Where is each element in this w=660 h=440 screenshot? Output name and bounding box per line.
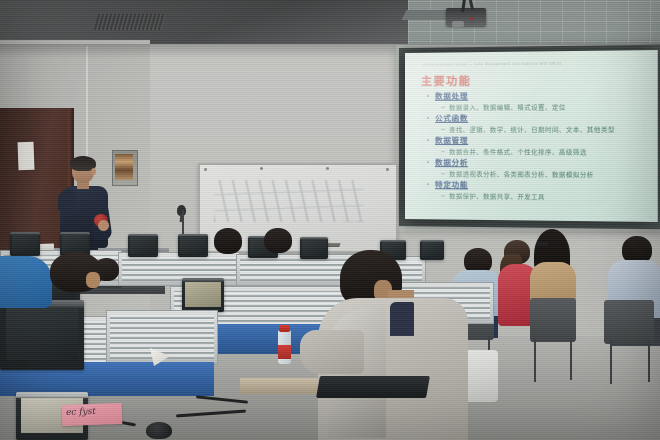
bullet-detail: 数据录入、数据编辑、格式设置、定位 <box>423 102 652 112</box>
list-item: 数据处理 数据录入、数据编辑、格式设置、定位 <box>423 89 652 112</box>
slide-bullet-list: 数据处理 数据录入、数据编辑、格式设置、定位 公式函数 查找、逻辑、数学、统计、… <box>423 89 652 203</box>
chair <box>604 300 654 344</box>
student-torso <box>0 256 52 308</box>
bullet-heading: 数据处理 <box>423 89 652 101</box>
chair-leg <box>610 340 612 384</box>
bullet-heading: 数据分析 <box>423 157 652 169</box>
bullet-heading: 公式函数 <box>423 112 652 124</box>
list-item <box>212 228 246 262</box>
list-item: 数据分析 数据透视表分析、各类图表分析、数据模拟分析 <box>423 157 652 179</box>
chair-leg <box>570 338 572 380</box>
bullet-heading: 特定功能 <box>423 179 652 192</box>
lab-monitor <box>10 232 40 256</box>
whiteboard-bolt <box>326 167 329 170</box>
whiteboard-bolt <box>386 168 389 171</box>
student-dark-hair-left <box>46 252 110 316</box>
projector-indicator-light <box>470 17 474 20</box>
slide-page-number: 1 <box>649 215 651 219</box>
water-bottle-cap <box>279 325 290 332</box>
jacket-collar <box>390 302 414 336</box>
classroom-photo: Office Business Series — Data Management… <box>0 0 660 440</box>
water-bottle-label <box>278 345 291 359</box>
bullet-detail: 查找、逻辑、数学、统计、日期时间、文本、其他类型 <box>423 125 652 134</box>
lab-monitor <box>128 234 158 257</box>
lab-monitor <box>182 278 224 312</box>
pink-sticky-note-text: ec fyst <box>66 406 120 418</box>
student-arm <box>300 330 364 374</box>
list-item: 数据管理 数据合并、条件格式、个性化排序、高级筛选 <box>423 135 652 157</box>
slide-header-text: Office Business Series — Data Management… <box>423 61 629 67</box>
projector-lens-icon <box>452 21 464 27</box>
student-head <box>214 228 242 254</box>
posted-paper <box>18 142 35 171</box>
student-head <box>264 228 292 253</box>
chair <box>530 298 576 342</box>
slide-title: 主要功能 <box>421 72 471 88</box>
computer-mouse <box>146 422 172 439</box>
list-item: 公式函数 查找、逻辑、数学、统计、日期时间、文本、其他类型 <box>423 112 652 134</box>
presenter-shoulder <box>58 190 76 210</box>
list-item <box>262 228 296 262</box>
projection-screen: Office Business Series — Data Management… <box>405 50 658 222</box>
whiteboard-bolt <box>204 168 207 171</box>
keyboard <box>316 376 430 398</box>
bullet-heading: 数据管理 <box>423 135 652 146</box>
list-item: 特定功能 数据保护、数据共享、开发工具 <box>423 179 652 202</box>
glasses-icon <box>537 242 548 246</box>
bullet-detail: 数据透视表分析、各类图表分析、数据模拟分析 <box>423 169 652 179</box>
chair-leg <box>648 340 650 382</box>
whiteboard-erased-marks <box>214 180 364 222</box>
chair-leg <box>534 338 536 382</box>
bullet-detail: 数据保护、数据共享、开发工具 <box>423 191 652 202</box>
whiteboard-bolt <box>260 167 263 170</box>
presenter-ear <box>91 168 96 175</box>
student-ear <box>86 272 100 288</box>
presenter-hand <box>98 220 109 231</box>
lab-monitor <box>178 234 208 257</box>
ceiling-vent <box>94 14 167 30</box>
bullet-detail: 数据合并、条件格式、个性化排序、高级筛选 <box>423 147 652 157</box>
